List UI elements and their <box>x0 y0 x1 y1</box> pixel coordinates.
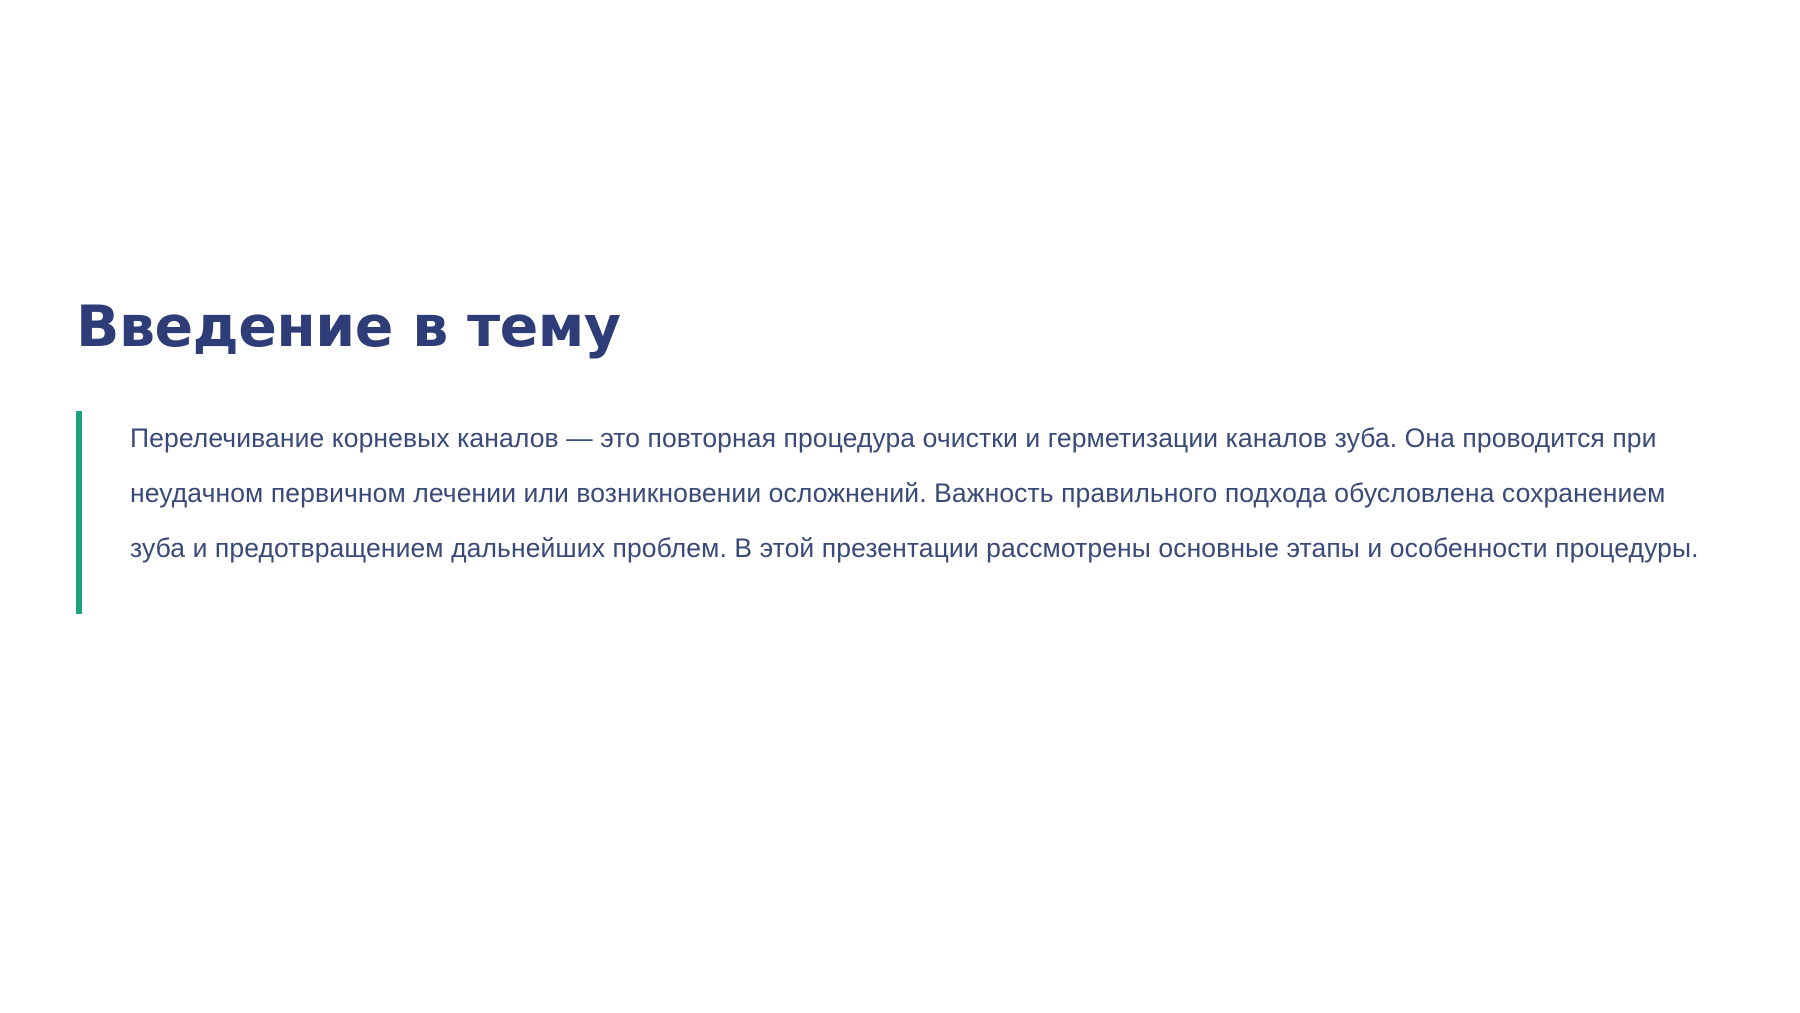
body-text-block: Перелечивание корневых каналов — это пов… <box>76 411 1716 614</box>
presentation-slide: Введение в тему Перелечивание корневых к… <box>0 0 1800 1013</box>
accent-bar <box>76 411 82 614</box>
slide-content-area: Введение в тему Перелечивание корневых к… <box>76 296 1716 614</box>
body-paragraph: Перелечивание корневых каналов — это пов… <box>130 411 1716 576</box>
page-title: Введение в тему <box>76 296 1716 360</box>
